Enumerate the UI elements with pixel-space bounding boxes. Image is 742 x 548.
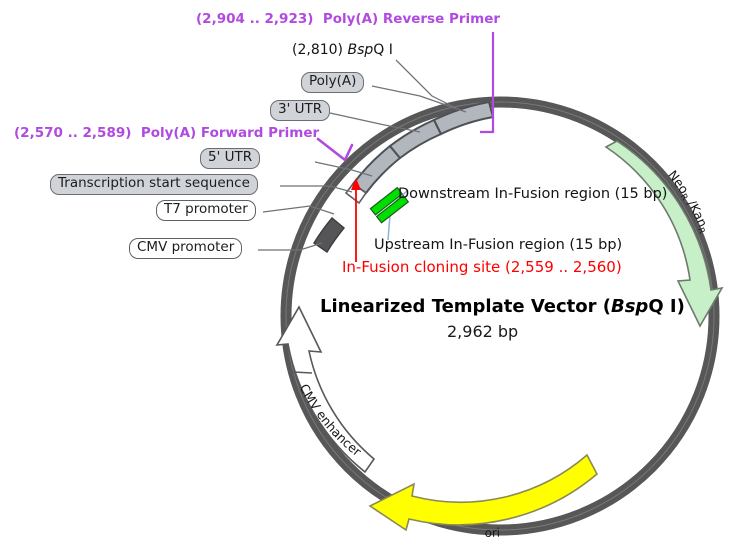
plasmid-map-figure: NeoR /KanR ori CMV enhancer (0, 0, 742, 548)
forward-primer-label: (2,570 .. 2,589) Poly(A) Forward Primer (14, 126, 319, 142)
chip-cmv-promoter[interactable]: CMV promoter (129, 238, 242, 259)
downstream-infusion-label: Downstream In-Fusion region (15 bp) (398, 186, 667, 202)
ori-label: ori (485, 526, 501, 540)
chip-5utr[interactable]: 5' UTR (200, 148, 260, 169)
vector-size-label: 2,962 bp (447, 322, 518, 341)
chip-t7-promoter[interactable]: T7 promoter (156, 200, 256, 221)
feature-block-t7-promoter (314, 218, 344, 252)
chip-polya[interactable]: Poly(A) (301, 72, 364, 93)
chip-transcription-start-sequence[interactable]: Transcription start sequence (50, 174, 258, 195)
bspq-site-label: (2,810) BspQ I (292, 42, 393, 58)
reverse-primer-label: (2,904 .. 2,923) Poly(A) Reverse Primer (196, 12, 500, 28)
chip-3utr[interactable]: 3' UTR (270, 100, 330, 121)
purple-primer-arrow-icon (318, 139, 352, 160)
vector-title: Linearized Template Vector (BspQ I) (320, 296, 685, 317)
infusion-cloning-site-label: In-Fusion cloning site (2,559 .. 2,560) (342, 259, 622, 276)
upstream-infusion-label: Upstream In-Fusion region (15 bp) (374, 237, 622, 253)
